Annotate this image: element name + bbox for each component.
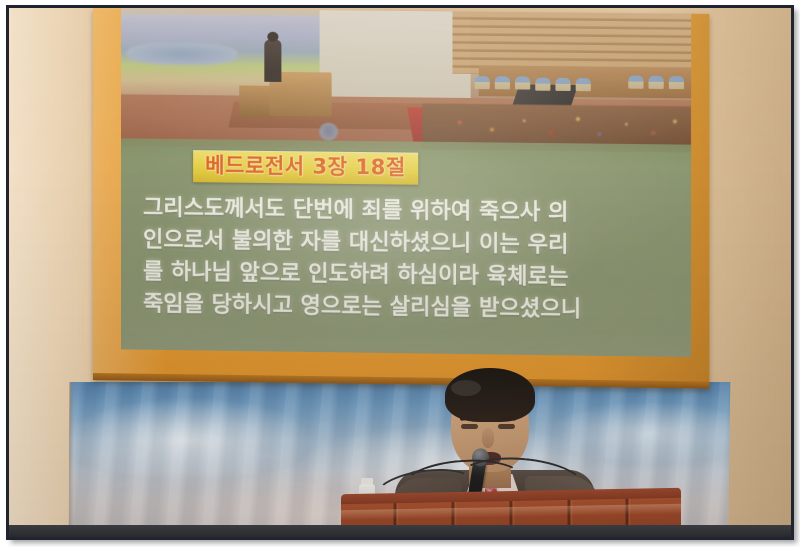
scripture-reference-banner: 베드로전서 3장 18절 <box>193 150 418 185</box>
projection-screen: 베드로전서 3장 18절 그리스도께서도 단번에 죄를 위하여 죽으사 의 인으… <box>121 8 691 357</box>
foreground-shadow-strip <box>9 525 791 537</box>
projected-chair <box>669 76 684 89</box>
projected-chair <box>649 76 664 89</box>
projected-communion-table <box>239 86 273 118</box>
preacher-eye-right <box>498 424 515 429</box>
projected-preacher <box>264 40 281 82</box>
preacher-nose <box>482 428 494 448</box>
scripture-body: 그리스도께서도 단번에 죄를 위하여 죽으사 의 인으로서 불의한 자를 대신하… <box>143 193 671 328</box>
projected-chair <box>535 78 550 91</box>
projected-chair <box>495 76 510 89</box>
scripture-line-2: 인으로서 불의한 자를 대신하셨으니 이는 우리 <box>143 225 671 264</box>
preacher-eye-left <box>461 424 478 429</box>
scripture-slide: 베드로전서 3장 18절 그리스도께서도 단번에 죄를 위하여 죽으사 의 인으… <box>121 138 691 357</box>
photograph: 베드로전서 3장 18절 그리스도께서도 단번에 죄를 위하여 죽으사 의 인으… <box>6 5 794 540</box>
scripture-line-3: 를 하나님 앞으로 인도하려 하심이라 육체로는 <box>143 257 671 296</box>
projected-chair <box>628 76 643 89</box>
projected-sanctuary-view <box>121 8 691 152</box>
projected-chair <box>576 78 591 91</box>
projected-chair <box>555 78 570 91</box>
scripture-line-1: 그리스도께서도 단번에 죄를 위하여 죽으사 의 <box>143 193 671 231</box>
projected-chair <box>515 76 530 89</box>
photo-canvas: 베드로전서 3장 18절 그리스도께서도 단번에 죄를 위하여 죽으사 의 인으… <box>0 0 800 547</box>
mural-left-edge <box>69 382 74 540</box>
projected-chair <box>475 76 490 89</box>
preacher-hair <box>445 368 535 422</box>
scripture-line-4: 죽임을 당하시고 영으로는 살리심을 받으셨으니 <box>143 289 671 328</box>
projected-floor-light <box>318 122 340 140</box>
projection-screen-frame: 베드로전서 3장 18절 그리스도께서도 단번에 죄를 위하여 죽으사 의 인으… <box>93 8 709 389</box>
